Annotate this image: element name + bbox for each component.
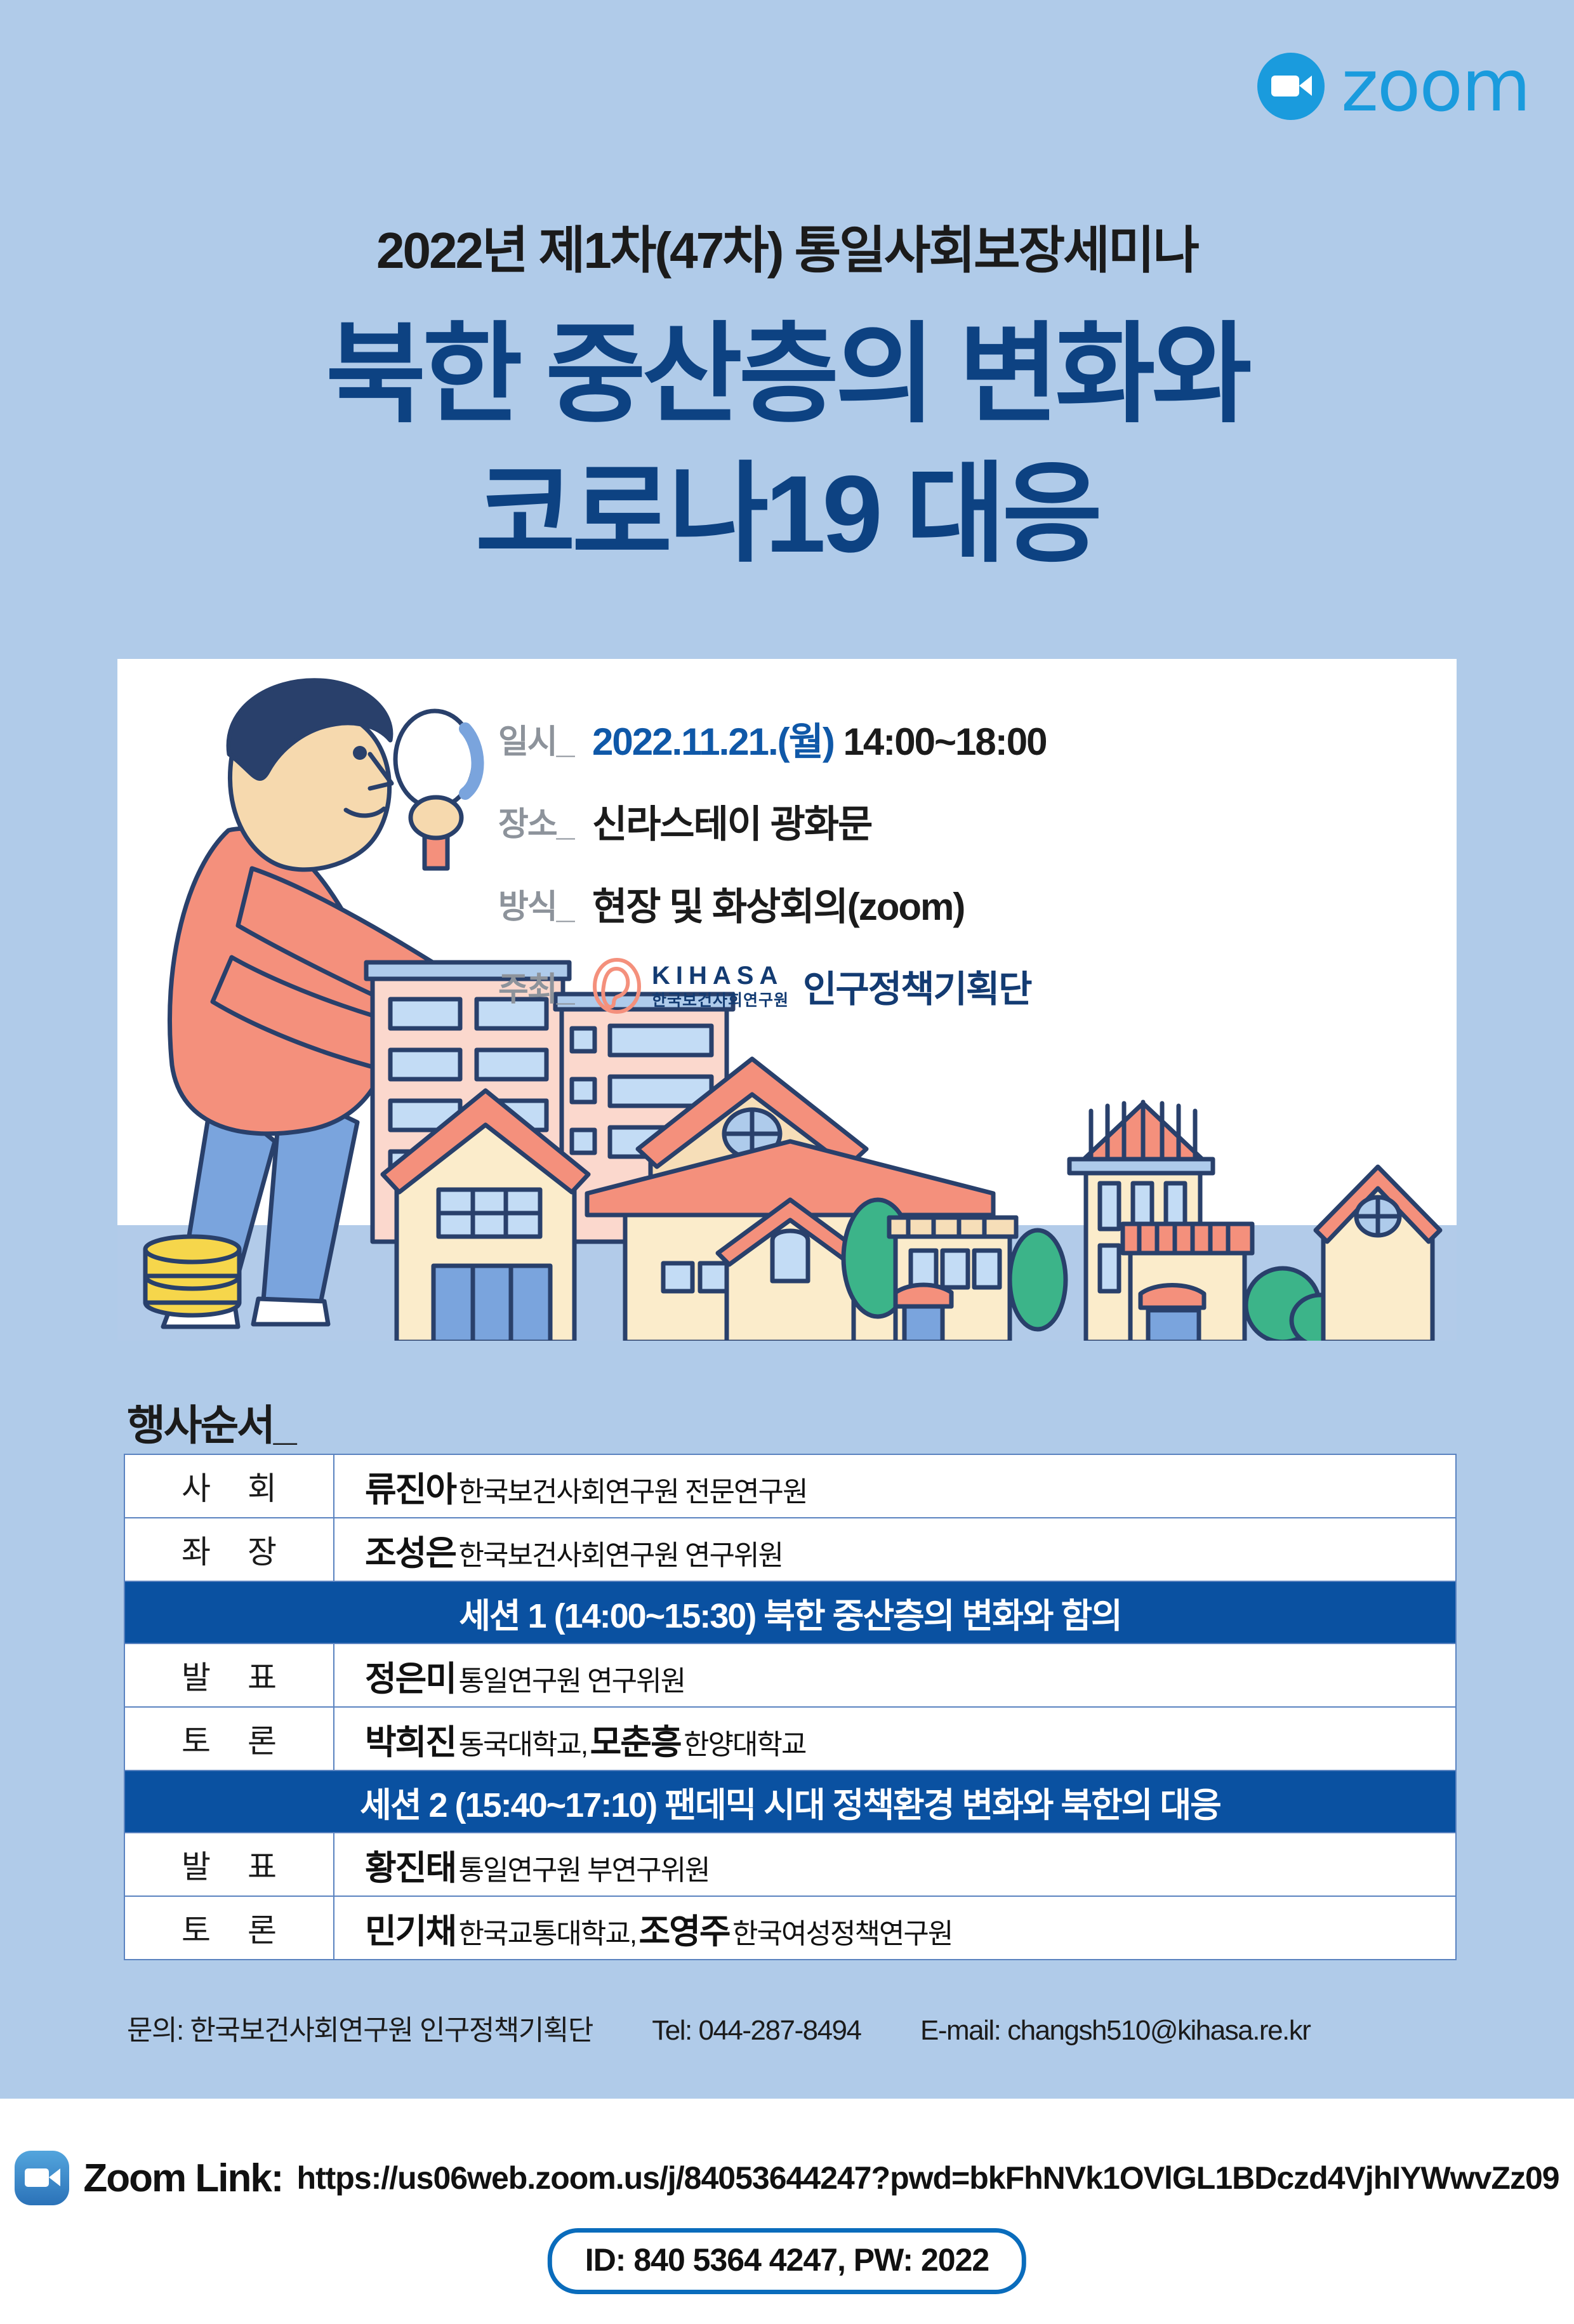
date-time: 14:00~18:00 [834,720,1047,763]
person-name: 박희진 [365,1723,456,1762]
table-row: 사 회 류진아 한국보건사회연구원 전문연구원 [124,1454,1456,1518]
detail-label-venue: 장소_ [498,797,592,845]
detail-row-format: 방식_ 현장 및 화상회의(zoom) [498,876,1431,931]
session-title: 세션 1 (14:00~15:30) 북한 중산층의 변화와 함의 [124,1581,1456,1643]
row-person: 조성은 한국보건사회연구원 연구위원 [334,1518,1456,1581]
detail-label-format: 방식_ [498,880,592,927]
row-role: 토 론 [124,1896,334,1960]
program-table: 사 회 류진아 한국보건사회연구원 전문연구원 좌 장 조성은 한국보건사회연구… [124,1454,1457,1960]
detail-value-venue: 신라스테이 광화문 [592,793,871,849]
kihasa-logo: KIHASA 한국보건사회연구원 [592,957,789,1014]
contact-tel: Tel: 044-287-8494 [652,2015,861,2046]
person-affiliation: 통일연구원 연구위원 [459,1666,685,1697]
table-row: 토 론 민기채 한국교통대학교, 조영주 한국여성정책연구원 [124,1896,1456,1960]
title-line-2: 코로나19 대응 [0,444,1574,584]
table-row: 발 표 황진태 통일연구원 부연구위원 [124,1833,1456,1896]
detail-row-date: 일시_ 2022.11.21.(월) 14:00~18:00 [498,711,1431,766]
kihasa-wordmark: KIHASA 한국보건사회연구원 [652,963,789,1009]
title-line-1: 북한 중산층의 변화와 [0,305,1574,444]
zoom-camera-icon-footer [15,2151,69,2205]
seminar-kicker: 2022년 제1차(47차) 통일사회보장세미나 [0,209,1574,283]
contact-email: E-mail: changsh510@kihasa.re.kr [920,2015,1310,2046]
detail-value-date: 2022.11.21.(월) 14:00~18:00 [592,711,1046,766]
kihasa-emblem-icon [592,957,642,1014]
detail-label-host: 주최_ [498,962,592,1010]
person-affiliation: 한국교통대학교, [459,1918,637,1949]
contact-line: 문의: 한국보건사회연구원 인구정책기획단 Tel: 044-287-8494 … [127,2007,1310,2048]
zoom-link-label: Zoom Link: [83,2156,282,2201]
zoom-brand-logo: zoom [1257,51,1530,122]
session-header-row: 세션 2 (15:40~17:10) 팬데믹 시대 정책환경 변화와 북한의 대… [124,1770,1456,1833]
person-name: 황진태 [365,1849,456,1887]
person-affiliation: 통일연구원 부연구위원 [459,1855,710,1886]
session-header-row: 세션 1 (14:00~15:30) 북한 중산층의 변화와 함의 [124,1581,1456,1643]
kihasa-name-en: KIHASA [652,963,789,988]
poster-root: zoom 2022년 제1차(47차) 통일사회보장세미나 북한 중산층의 변화… [0,0,1574,2324]
zoom-meeting-url[interactable]: https://us06web.zoom.us/j/84053644247?pw… [296,2160,1559,2196]
zoom-link-row: Zoom Link: https://us06web.zoom.us/j/840… [0,2151,1574,2205]
zoom-wordmark: zoom [1341,51,1530,122]
person-name-2: 조영주 [639,1913,730,1951]
person-affiliation-2: 한양대학교 [684,1729,805,1760]
row-role: 사 회 [124,1454,334,1518]
program-heading: 행사순서_ [127,1391,295,1452]
row-person: 황진태 통일연구원 부연구위원 [334,1833,1456,1896]
row-person: 류진아 한국보건사회연구원 전문연구원 [334,1454,1456,1518]
person-affiliation: 동국대학교, [459,1729,588,1760]
info-panel: 일시_ 2022.11.21.(월) 14:00~18:00 장소_ 신라스테이… [117,659,1457,1341]
table-row: 토 론 박희진 동국대학교, 모춘흥 한양대학교 [124,1707,1456,1770]
detail-row-venue: 장소_ 신라스테이 광화문 [498,793,1431,848]
person-name: 류진아 [365,1471,456,1509]
session-title: 세션 2 (15:40~17:10) 팬데믹 시대 정책환경 변화와 북한의 대… [124,1770,1456,1833]
person-name: 민기채 [365,1913,456,1951]
meeting-id-badge: ID: 840 5364 4247, PW: 2022 [548,2228,1026,2294]
event-details-list: 일시_ 2022.11.21.(월) 14:00~18:00 장소_ 신라스테이… [498,711,1431,1041]
detail-row-host: 주최_ KIHASA 한국보건사회연구원 인구정책기획단 [498,959,1431,1013]
person-name-2: 모춘흥 [590,1723,681,1762]
page-title: 북한 중산층의 변화와 코로나19 대응 [0,305,1574,584]
host-department: 인구정책기획단 [803,959,1031,1013]
row-role: 발 표 [124,1643,334,1707]
row-role: 발 표 [124,1833,334,1896]
table-row: 좌 장 조성은 한국보건사회연구원 연구위원 [124,1518,1456,1581]
person-name: 조성은 [365,1534,456,1572]
contact-organizer: 문의: 한국보건사회연구원 인구정책기획단 [127,2015,593,2046]
zoom-camera-icon [1257,53,1325,120]
person-affiliation: 한국보건사회연구원 전문연구원 [459,1477,807,1508]
detail-label-date: 일시_ [498,715,592,762]
person-name: 정은미 [365,1660,456,1698]
row-role: 좌 장 [124,1518,334,1581]
person-affiliation-2: 한국여성정책연구원 [732,1918,952,1949]
person-affiliation: 한국보건사회연구원 연구위원 [459,1540,783,1571]
date-highlight: 2022.11.21.(월) [592,720,834,763]
row-person: 정은미 통일연구원 연구위원 [334,1643,1456,1707]
row-person: 박희진 동국대학교, 모춘흥 한양대학교 [334,1707,1456,1770]
kihasa-name-kr: 한국보건사회연구원 [652,993,789,1009]
table-row: 발 표 정은미 통일연구원 연구위원 [124,1643,1456,1707]
detail-value-format: 현장 및 화상회의(zoom) [592,876,964,931]
row-role: 토 론 [124,1707,334,1770]
row-person: 민기채 한국교통대학교, 조영주 한국여성정책연구원 [334,1896,1456,1960]
